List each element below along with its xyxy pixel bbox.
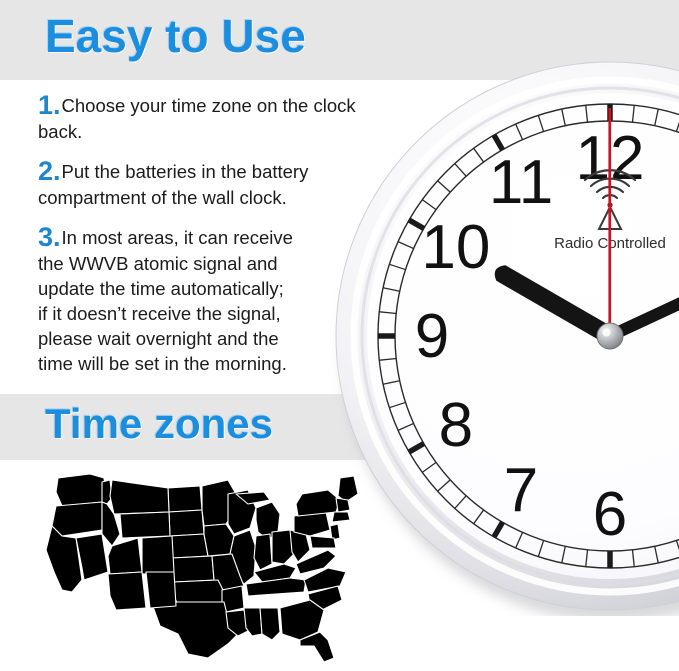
list-item: 1.Choose your time zone on the clock bac… xyxy=(38,92,383,144)
list-item: 2.Put the batteries in the battery compa… xyxy=(38,158,383,210)
step-text-line: Put the batteries in the battery xyxy=(62,161,309,182)
clock-second-hand xyxy=(608,108,611,340)
step-text-line: In most areas, it can receive xyxy=(62,227,293,248)
clock-bezel-inner-ring xyxy=(362,88,679,584)
step-text-line: back. xyxy=(38,119,383,144)
clock-face xyxy=(367,93,679,579)
clock-numeral-6: 6 xyxy=(593,480,627,549)
clock-hour-hand xyxy=(491,262,620,347)
infographic-page: Easy to Use 1.Choose your time zone on t… xyxy=(0,0,679,671)
clock-center-highlight xyxy=(603,329,611,337)
clock-shadow xyxy=(342,78,679,616)
us-timezone-map xyxy=(28,468,374,664)
clock-numeral-7: 7 xyxy=(504,456,538,525)
clock-minute-hand xyxy=(602,242,679,344)
step-text-line: if it doesn’t receive the signal, xyxy=(38,301,383,326)
clock-numeral-9: 9 xyxy=(415,302,449,371)
clock-numerals: 123456789101112 xyxy=(415,124,679,549)
radio-controlled-label: Radio Controlled xyxy=(554,235,666,252)
clock-numeral-10: 10 xyxy=(421,213,490,282)
clock-numeral-12: 12 xyxy=(576,124,645,193)
clock-tick-marks xyxy=(378,104,679,568)
easy-to-use-heading: Easy to Use xyxy=(45,9,306,63)
clock-minute-track-outer xyxy=(378,104,679,568)
clock-center-cap xyxy=(597,323,623,349)
step-text-line: update the time automatically; xyxy=(38,276,383,301)
instruction-list: 1.Choose your time zone on the clock bac… xyxy=(38,92,383,390)
step-text-line: compartment of the wall clock. xyxy=(38,185,383,210)
step-text-line: the WWVB atomic signal and xyxy=(38,251,383,276)
list-item: 3.In most areas, it can receive the WWVB… xyxy=(38,224,383,376)
step-number: 2. xyxy=(38,156,61,186)
clock-bezel xyxy=(336,62,679,610)
radio-tower-icon xyxy=(585,170,635,229)
step-number: 3. xyxy=(38,222,61,252)
step-text-line: Choose your time zone on the clock xyxy=(62,95,356,116)
clock-numeral-11: 11 xyxy=(489,148,553,217)
step-text-line: please wait overnight and the xyxy=(38,326,383,351)
clock-minute-track-inner xyxy=(395,121,679,551)
time-zones-heading: Time zones xyxy=(45,400,273,448)
step-number: 1. xyxy=(38,90,61,120)
clock-bezel-highlight xyxy=(354,80,679,592)
step-text-line: time will be set in the morning. xyxy=(38,351,383,376)
